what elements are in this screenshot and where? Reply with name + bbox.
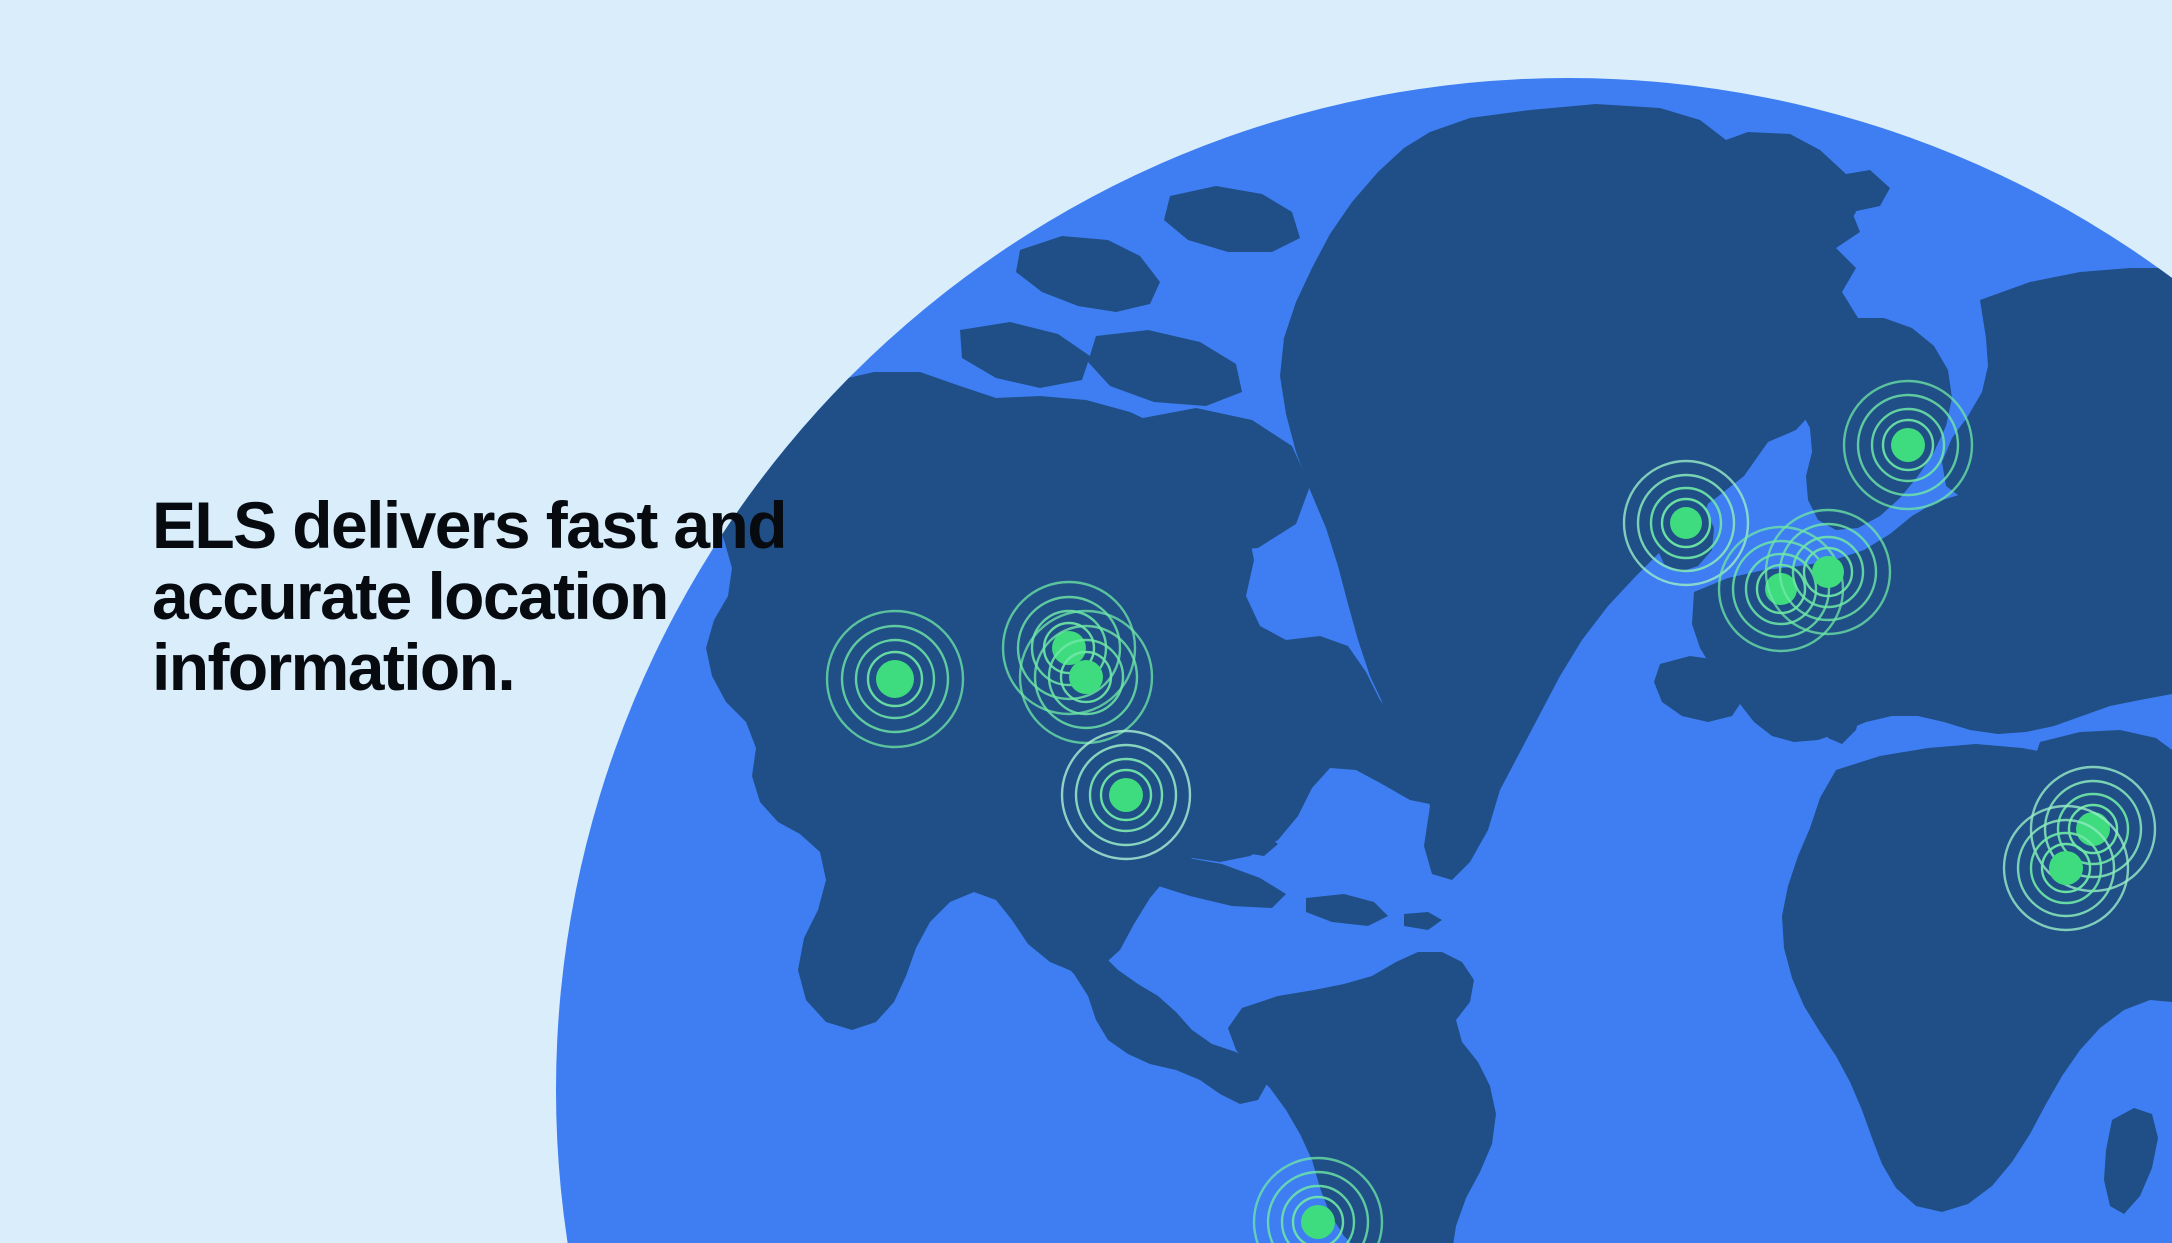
headline-line-3: information. xyxy=(152,634,792,705)
headline: ELS delivers fast and accurate location … xyxy=(152,492,792,705)
headline-line-1: ELS delivers fast and xyxy=(152,492,792,563)
hero-slide: ELS delivers fast and accurate location … xyxy=(0,0,2172,1243)
headline-line-2: accurate location xyxy=(152,563,792,634)
